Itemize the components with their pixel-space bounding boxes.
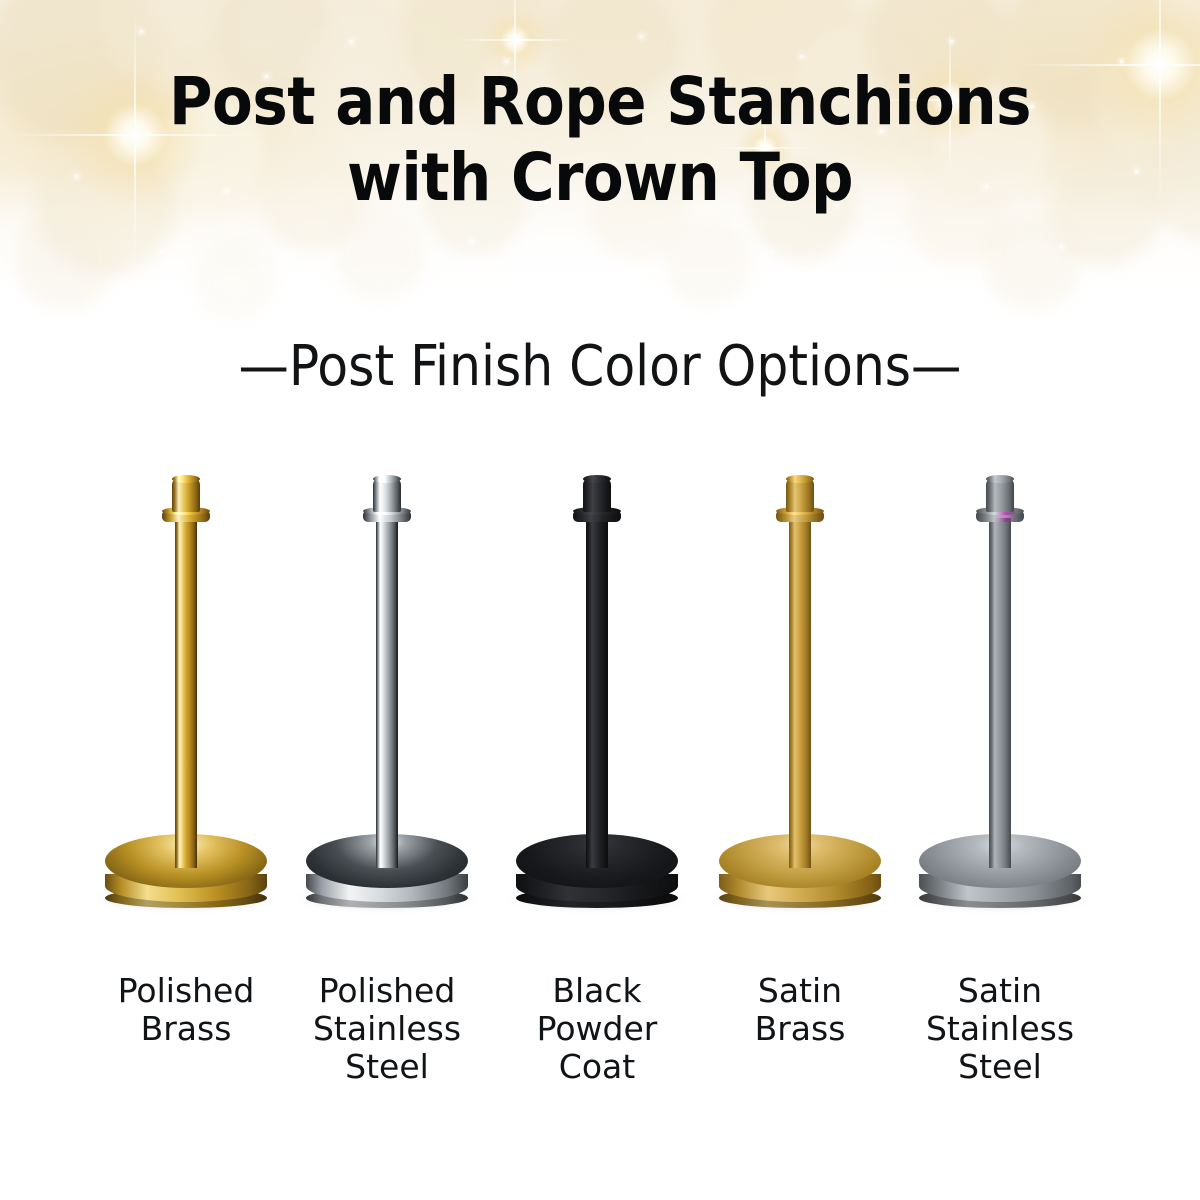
finish-label-line: Satin xyxy=(900,972,1100,1010)
crown-top-cap xyxy=(172,478,200,512)
finish-label-line: Stainless xyxy=(287,1010,487,1048)
stanchion-satin-stainless-steel[interactable] xyxy=(900,460,1100,930)
stanchion-figure xyxy=(497,460,697,930)
finish-label-line: Steel xyxy=(287,1048,487,1086)
bokeh-circle xyxy=(330,205,430,305)
crown-top-ellipse xyxy=(786,475,814,483)
glitter-dot xyxy=(770,250,773,253)
finish-label-line: Polished xyxy=(287,972,487,1010)
crown-top-ellipse xyxy=(172,475,200,483)
glitter-dot xyxy=(160,250,163,253)
page-title-line-1: Post and Rope Stanchions xyxy=(0,64,1200,140)
finish-label-line: Black xyxy=(497,972,697,1010)
stanchion-figure xyxy=(700,460,900,930)
stanchion-figure xyxy=(900,460,1100,930)
page-title-line-2: with Crown Top xyxy=(0,140,1200,216)
finish-label-polished-brass[interactable]: PolishedBrass xyxy=(86,972,286,1048)
glitter-dot xyxy=(1060,245,1063,248)
post-tube xyxy=(175,518,197,868)
stanchion-row xyxy=(0,460,1200,930)
stanchion-figure xyxy=(287,460,487,930)
post-tube xyxy=(376,518,398,868)
finish-label-line: Brass xyxy=(700,1010,900,1048)
crown-top-ellipse xyxy=(986,475,1014,483)
stanchion-black-powder-coat[interactable] xyxy=(497,460,697,930)
finish-label-line: Satin xyxy=(700,972,900,1010)
crown-top-ellipse xyxy=(373,475,401,483)
finish-label-black-powder-coat[interactable]: BlackPowderCoat xyxy=(497,972,697,1086)
post-tube xyxy=(586,518,608,868)
glitter-dot xyxy=(140,30,143,33)
stanchion-figure xyxy=(86,460,286,930)
stanchion-polished-brass[interactable] xyxy=(86,460,286,930)
stanchion-satin-brass[interactable] xyxy=(700,460,900,930)
finish-label-satin-brass[interactable]: SatinBrass xyxy=(700,972,900,1048)
finish-label-row: PolishedBrassPolishedStainlessSteelBlack… xyxy=(0,972,1200,1132)
finish-label-satin-stainless-steel[interactable]: SatinStainlessSteel xyxy=(900,972,1100,1086)
finish-label-line: Powder xyxy=(497,1010,697,1048)
glitter-dot xyxy=(470,240,473,243)
crown-top-cap xyxy=(583,478,611,512)
crown-top-cap xyxy=(786,478,814,512)
finish-label-line: Brass xyxy=(86,1010,286,1048)
finish-label-line: Polished xyxy=(86,972,286,1010)
glitter-dot xyxy=(800,55,803,58)
finish-label-line: Steel xyxy=(900,1048,1100,1086)
finish-label-line: Coat xyxy=(497,1048,697,1086)
finish-label-line: Stainless xyxy=(900,1010,1100,1048)
crown-top-ellipse xyxy=(583,475,611,483)
post-tube xyxy=(789,518,811,868)
glitter-dot xyxy=(350,40,353,43)
crown-top-cap xyxy=(986,478,1014,512)
glitter-dot xyxy=(950,40,953,43)
crown-top-cap xyxy=(373,478,401,512)
page-title: Post and Rope Stanchions with Crown Top xyxy=(0,64,1200,216)
stanchion-polished-stainless-steel[interactable] xyxy=(287,460,487,930)
glitter-dot xyxy=(1120,60,1123,63)
glitter-dot xyxy=(640,35,643,38)
finish-label-polished-stainless-steel[interactable]: PolishedStainlessSteel xyxy=(287,972,487,1086)
post-tube xyxy=(989,518,1011,868)
page-subtitle: —Post Finish Color Options— xyxy=(0,335,1200,399)
bokeh-circle xyxy=(660,215,755,310)
bokeh-circle xyxy=(980,210,1085,315)
